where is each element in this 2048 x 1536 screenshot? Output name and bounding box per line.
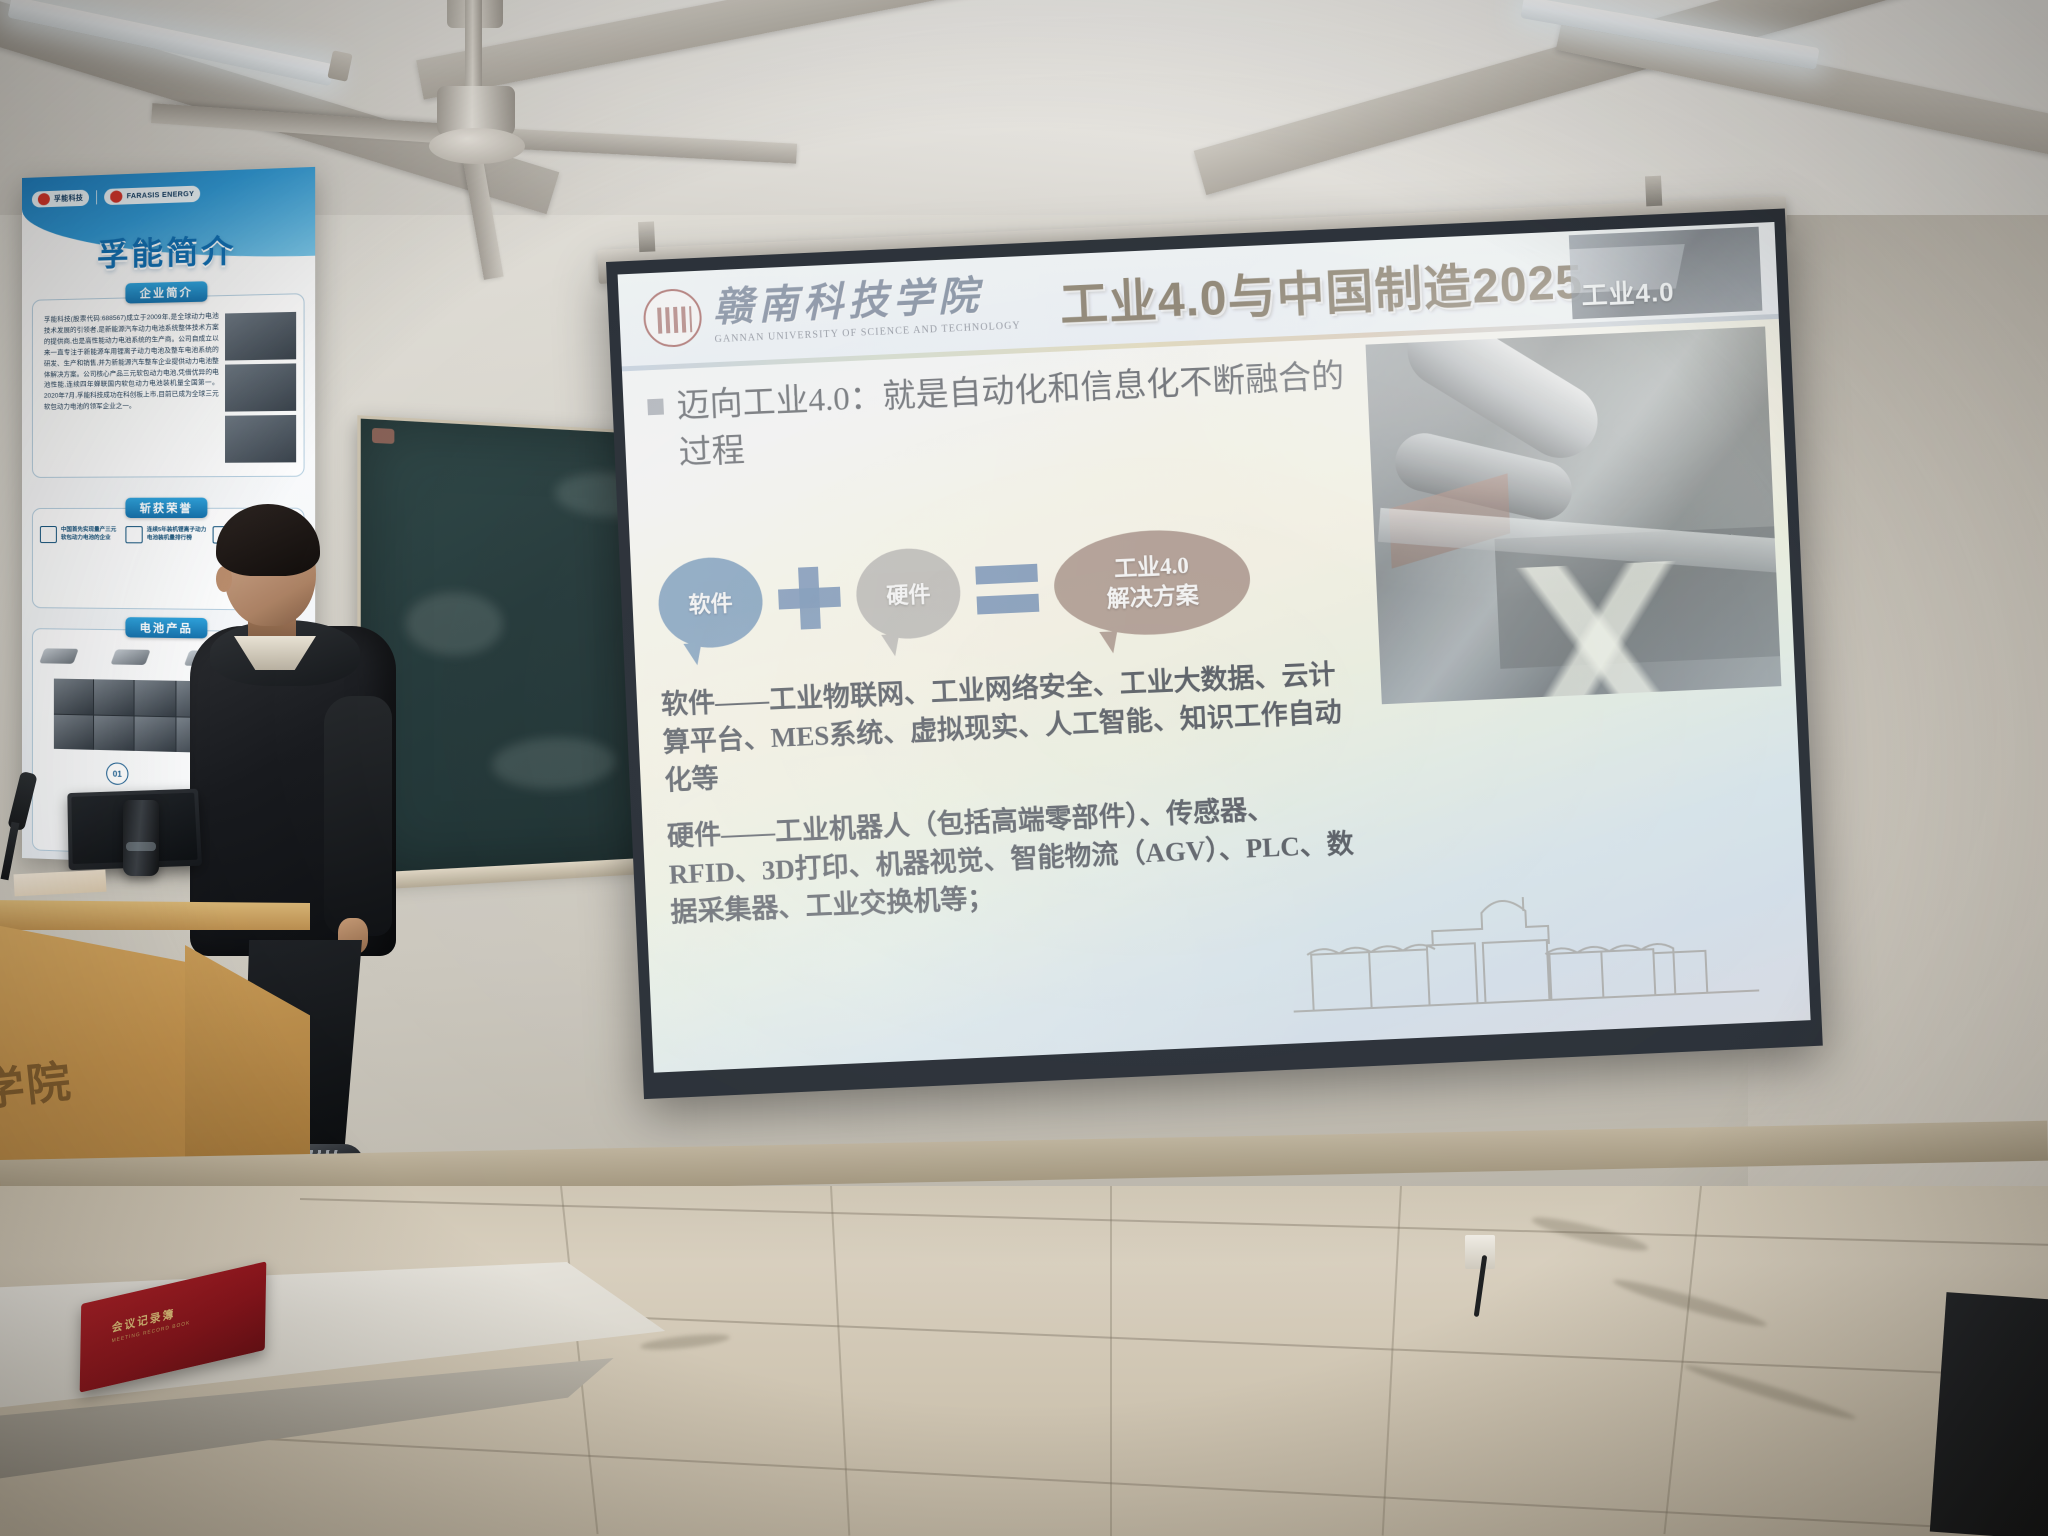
battery-module-icon bbox=[111, 649, 151, 665]
grid-cell bbox=[94, 715, 134, 751]
floor-scuff-mark bbox=[1682, 1360, 1858, 1424]
grid-cell bbox=[54, 714, 93, 750]
logo-dot-icon bbox=[110, 190, 122, 203]
slide-bullet: 迈向工业4.0：就是自动化和信息化不断融合的过程 bbox=[647, 353, 1371, 479]
slide-paragraph-hardware: 硬件——工业机器人（包括高端零部件）、传感器、RFID、3D打印、机器视觉、智能… bbox=[666, 787, 1370, 932]
factory-skyline-illustration bbox=[1285, 886, 1769, 1018]
ceiling-fan bbox=[215, 0, 735, 180]
plus-operator-icon bbox=[777, 566, 842, 631]
screen-bracket bbox=[638, 221, 655, 252]
hardware-bubble-label: 硬件 bbox=[886, 577, 931, 611]
solution-bubble-line1: 工业4.0 bbox=[1114, 553, 1190, 581]
poster-thumbnail bbox=[225, 312, 296, 361]
grid-cell bbox=[135, 716, 175, 752]
poster-section-tag-company: 企业简介 bbox=[125, 281, 207, 303]
layers-icon bbox=[40, 526, 57, 543]
side-monitor bbox=[1930, 1292, 2048, 1536]
classroom-photo: 孚能科技 FARASIS ENERGY 孚能简介 企业简介 孚能科技(股票代码:… bbox=[0, 0, 2048, 1536]
poster-company-body: 孚能科技(股票代码:688567)成立于2009年,是全球动力电池技术发展的引领… bbox=[44, 312, 219, 414]
chalk-smudge bbox=[492, 736, 615, 791]
slide-paragraph-software: 软件——工业物联网、工业网络安全、工业大数据、云计算平台、MES系统、虚拟现实、… bbox=[660, 655, 1364, 800]
bullet-square-icon bbox=[647, 399, 664, 416]
industrial-robot-photo bbox=[1366, 326, 1782, 704]
slide-title: 工业4.0与中国制造2025 bbox=[1058, 242, 1584, 336]
software-bubble-label: 软件 bbox=[688, 586, 733, 620]
screen-bracket bbox=[1645, 176, 1662, 207]
equals-operator-icon bbox=[975, 562, 1039, 617]
hardware-bubble: 硬件 bbox=[854, 546, 962, 641]
presenter-hair bbox=[216, 504, 320, 576]
tile-grout-line bbox=[1382, 1186, 1402, 1536]
software-bubble: 软件 bbox=[657, 555, 765, 650]
poster-logo-right: FARASIS ENERGY bbox=[104, 186, 200, 206]
fan-downrod bbox=[465, 0, 482, 92]
podium-emblem-text: 学院 bbox=[0, 1045, 75, 1118]
poster-logo-left-label: 孚能科技 bbox=[54, 193, 83, 204]
honor-item: 中国首先实现量产三元软包动力电池的企业 bbox=[40, 526, 120, 543]
university-seal-icon bbox=[642, 288, 703, 349]
flow-node: 01 bbox=[106, 762, 128, 785]
header-thumbnail-image: 工业4.0 bbox=[1569, 227, 1763, 320]
slide-bullet-text: 迈向工业4.0：就是自动化和信息化不断融合的过程 bbox=[676, 353, 1371, 478]
university-name-block: 赣南科技学院 GANNAN UNIVERSITY OF SCIENCE AND … bbox=[712, 274, 1021, 345]
projection-screen: 赣南科技学院 GANNAN UNIVERSITY OF SCIENCE AND … bbox=[606, 208, 1823, 1099]
battery-cell-icon bbox=[39, 648, 78, 664]
fan-bottom-cap bbox=[429, 128, 525, 164]
microphone-stand bbox=[2, 772, 42, 882]
solution-bubble-label: 工业4.0 解决方案 bbox=[1105, 551, 1200, 615]
thermos-bottle bbox=[123, 800, 159, 876]
grid-cell bbox=[54, 679, 93, 714]
photo-highlight-streaks bbox=[1366, 554, 1782, 705]
trophy-icon bbox=[125, 526, 142, 543]
podium-top-surface bbox=[0, 900, 310, 930]
poster-thumbnail bbox=[225, 363, 296, 411]
poster-thumbnail bbox=[225, 415, 296, 463]
tile-grout-line bbox=[830, 1186, 850, 1536]
poster-thumbnail-stack bbox=[225, 312, 296, 467]
poster-logo-left: 孚能科技 bbox=[32, 190, 89, 208]
logo-separator bbox=[96, 190, 97, 204]
honor-label: 中国首先实现量产三元软包动力电池的企业 bbox=[61, 527, 120, 543]
grid-cell bbox=[94, 679, 134, 715]
university-name-cn: 赣南科技学院 bbox=[712, 274, 1020, 328]
poster-logo-right-label: FARASIS ENERGY bbox=[127, 190, 195, 200]
logo-dot-icon bbox=[38, 193, 50, 205]
solution-bubble-line2: 解决方案 bbox=[1106, 582, 1199, 611]
solution-bubble: 工业4.0 解决方案 bbox=[1052, 526, 1253, 639]
poster-title: 孚能简介 bbox=[22, 223, 315, 277]
slide-equation-diagram: 软件 硬件 工业4.0 解决方案 bbox=[656, 513, 1361, 665]
magnet-icon bbox=[372, 428, 394, 444]
header-thumbnail-caption: 工业4.0 bbox=[1581, 272, 1676, 313]
tile-grout-line bbox=[1110, 1186, 1112, 1536]
front-table: 会议记录簿 MEETING RECORD BOOK bbox=[0, 1262, 780, 1536]
grid-cell bbox=[135, 680, 175, 716]
presenter-right-arm bbox=[324, 696, 392, 936]
presentation-slide: 赣南科技学院 GANNAN UNIVERSITY OF SCIENCE AND … bbox=[618, 222, 1811, 1073]
